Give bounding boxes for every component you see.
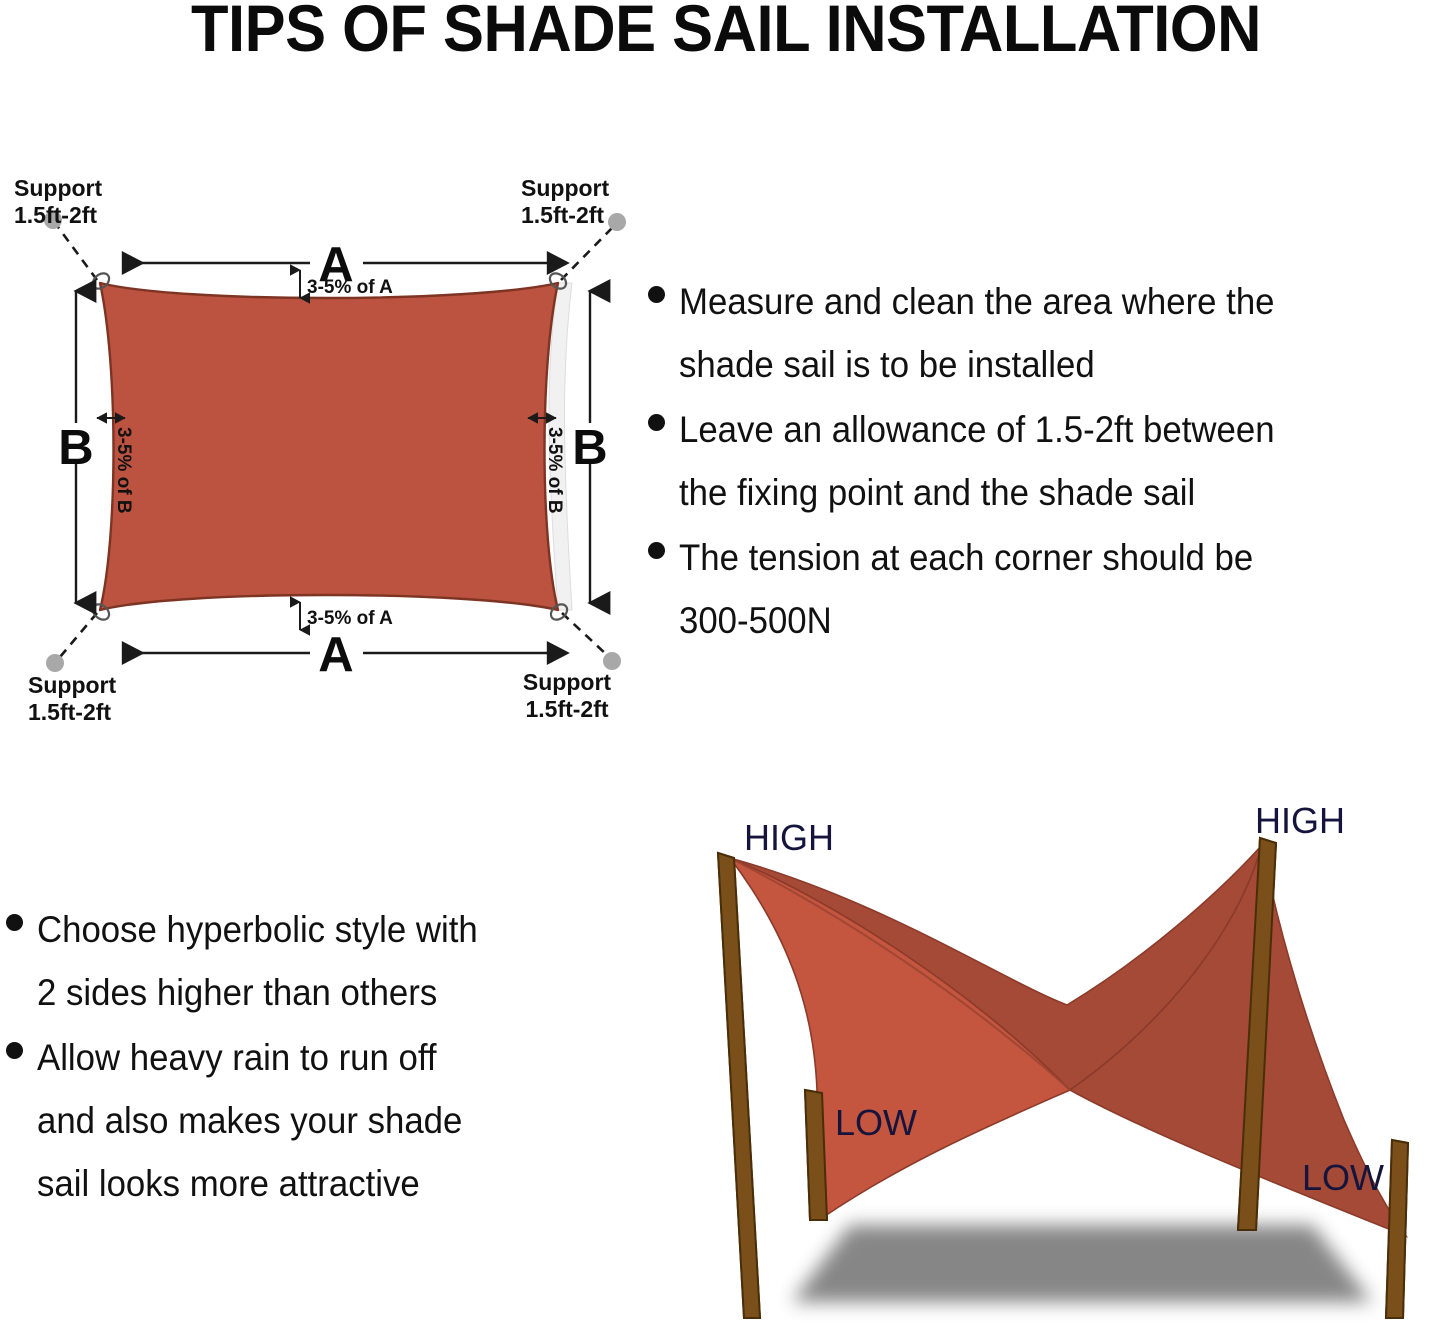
list-item: Allow heavy rain to run off and also mak…	[6, 1026, 626, 1215]
support-label-top-right-line1: Support	[521, 175, 609, 201]
tip-text: Measure and clean the area where the sha…	[679, 270, 1275, 396]
callout-b-right: 3-5% of B	[544, 427, 565, 514]
hypar-sail-diagram: HIGH HIGH LOW LOW	[672, 790, 1452, 1325]
page-title: TIPS OF SHADE SAIL INSTALLATION	[51, 0, 1401, 63]
list-item: Choose hyperbolic style with 2 sides hig…	[6, 898, 626, 1024]
callout-a-bottom: 3-5% of A	[307, 608, 393, 629]
support-dot-top-right	[608, 213, 626, 231]
sail-shape	[100, 283, 558, 610]
bullet-dot-icon	[648, 286, 665, 303]
tip-text: Leave an allowance of 1.5-2ft between th…	[679, 398, 1275, 524]
support-line-bottom-left	[60, 613, 97, 657]
bullet-dot-icon	[648, 414, 665, 431]
bullet-dot-icon	[648, 542, 665, 559]
list-item: The tension at each corner should be 300…	[648, 526, 1452, 652]
label-low-front-left: LOW	[835, 1102, 917, 1143]
label-high-back-left: HIGH	[744, 817, 834, 858]
support-dot-bottom-left	[46, 654, 64, 672]
label-high-back-right: HIGH	[1255, 800, 1345, 841]
label-a-bottom: A	[318, 628, 353, 682]
post-back-left-overlay	[718, 853, 760, 1318]
support-label-bottom-right-line2: 1.5ft-2ft	[525, 696, 608, 722]
callout-b-left: 3-5% of B	[113, 427, 134, 514]
support-label-top-left-line1: Support	[14, 175, 102, 201]
support-dot-bottom-right	[603, 652, 621, 670]
support-label-bottom-left-line1: Support	[28, 672, 116, 698]
label-low-front-right: LOW	[1302, 1157, 1384, 1198]
installation-tips-list: Measure and clean the area where the sha…	[648, 270, 1452, 654]
support-label-bottom-right-line1: Support	[523, 669, 611, 695]
tip-text: The tension at each corner should be 300…	[679, 526, 1253, 652]
ground-shadow	[792, 1225, 1372, 1302]
callout-a-top: 3-5% of A	[307, 277, 393, 298]
support-label-top-left-line2: 1.5ft-2ft	[14, 202, 97, 228]
tip-text: Choose hyperbolic style with 2 sides hig…	[37, 898, 478, 1024]
post-front-right-overlay	[1386, 1140, 1408, 1318]
support-line-bottom-right	[562, 613, 607, 655]
support-line-top-left	[58, 227, 97, 280]
infographic-page: TIPS OF SHADE SAIL INSTALLATION	[0, 0, 1452, 1325]
support-line-top-right	[561, 228, 612, 280]
tip-text: Allow heavy rain to run off and also mak…	[37, 1026, 462, 1215]
bullet-dot-icon	[6, 1042, 23, 1059]
label-b-left: B	[58, 421, 93, 475]
rect-sail-svg: A 3-5% of A A 3-5% of A B 3-5% of B B	[0, 165, 660, 735]
bullet-dot-icon	[6, 914, 23, 931]
list-item: Leave an allowance of 1.5-2ft between th…	[648, 398, 1452, 524]
support-label-bottom-left-line2: 1.5ft-2ft	[28, 699, 111, 725]
hypar-sail-svg: HIGH HIGH LOW LOW	[672, 790, 1452, 1325]
list-item: Measure and clean the area where the sha…	[648, 270, 1452, 396]
rect-sail-diagram: A 3-5% of A A 3-5% of A B 3-5% of B B	[0, 165, 660, 735]
label-b-right: B	[572, 421, 607, 475]
support-label-top-right-line2: 1.5ft-2ft	[521, 202, 604, 228]
hyperbolic-style-tips-list: Choose hyperbolic style with 2 sides hig…	[6, 898, 626, 1217]
